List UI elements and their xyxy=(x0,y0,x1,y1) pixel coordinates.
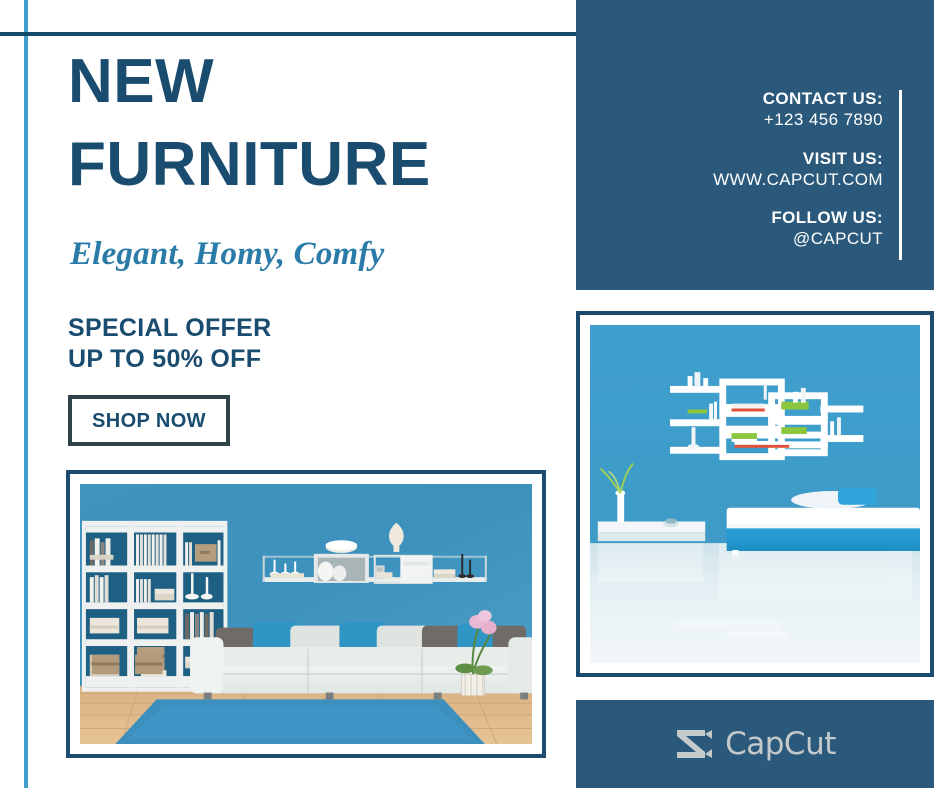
poster-canvas: NEW FURNITURE Elegant, Homy, Comfy SPECI… xyxy=(0,0,940,788)
bedroom-photo-frame[interactable] xyxy=(576,311,934,677)
contact-website-value[interactable]: WWW.CAPCUT.COM xyxy=(713,169,883,190)
contact-phone-value[interactable]: +123 456 7890 xyxy=(713,109,883,130)
brand-name: CapCut xyxy=(725,726,836,762)
contact-group-website: VISIT US: WWW.CAPCUT.COM xyxy=(713,148,883,191)
brand-logo-panel: CapCut xyxy=(576,700,934,788)
contact-group-phone: CONTACT US: +123 456 7890 xyxy=(713,88,883,131)
living-room-photo xyxy=(80,484,532,744)
shop-now-button[interactable]: SHOP NOW xyxy=(68,395,230,446)
tagline: Elegant, Homy, Comfy xyxy=(70,236,558,273)
contact-social-value[interactable]: @CAPCUT xyxy=(713,228,883,249)
offer-line-1: SPECIAL OFFER xyxy=(68,313,558,344)
left-content-column: NEW FURNITURE Elegant, Homy, Comfy SPECI… xyxy=(68,52,558,375)
contact-divider-rule xyxy=(899,90,902,260)
special-offer-text: SPECIAL OFFER UP TO 50% OFF xyxy=(68,313,558,376)
capcut-hourglass-icon xyxy=(674,727,714,761)
living-room-illustration xyxy=(80,484,532,744)
capcut-logo: CapCut xyxy=(576,700,934,788)
living-room-photo-frame[interactable] xyxy=(66,470,546,758)
bedroom-photo xyxy=(590,325,920,663)
headline-line-2: FURNITURE xyxy=(68,135,558,196)
headline-line-1: NEW xyxy=(68,52,558,113)
offer-line-2: UP TO 50% OFF xyxy=(68,344,558,375)
page-title: NEW FURNITURE xyxy=(68,52,558,196)
visit-us-label: VISIT US: xyxy=(713,148,883,169)
bedroom-illustration xyxy=(590,325,920,663)
contact-info: CONTACT US: +123 456 7890 VISIT US: WWW.… xyxy=(713,88,883,250)
contact-us-label: CONTACT US: xyxy=(713,88,883,109)
follow-us-label: FOLLOW US: xyxy=(713,207,883,228)
left-accent-rule xyxy=(24,0,28,788)
contact-group-social: FOLLOW US: @CAPCUT xyxy=(713,207,883,250)
